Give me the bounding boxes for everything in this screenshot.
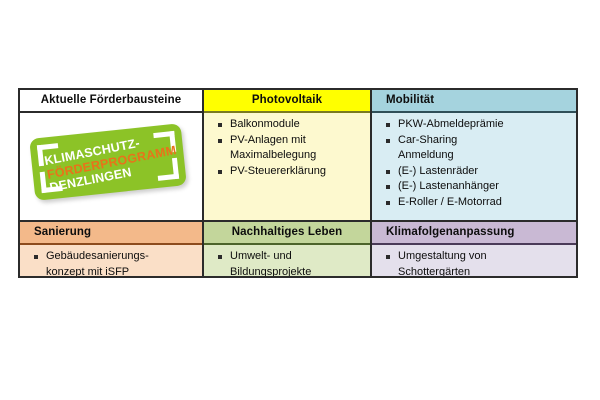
cell-nachhaltiges-leben: Nachhaltiges Leben Umwelt- und Bildungsp…	[202, 222, 370, 276]
list-item: PV-Steuererklärung	[208, 164, 366, 180]
cell-body-nachhaltiges-leben: Umwelt- und Bildungsprojekte	[204, 245, 370, 276]
cell-mobilitaet: Mobilität PKW-Abmeldeprämie Car-Sharing …	[370, 90, 576, 220]
item-list-mobilitaet: PKW-Abmeldeprämie Car-Sharing Anmeldung …	[376, 117, 572, 210]
cell-title-klimafolgenanpassung: Klimafolgenanpassung	[372, 222, 576, 245]
list-item: (E-) Lastenanhänger	[376, 179, 572, 195]
list-item: Gebäudesanierungs-	[24, 249, 198, 265]
list-item-continuation: Schottergärten	[376, 265, 572, 277]
table-row: Aktuelle Förderbausteine KLIMASCHUTZ- FÖ…	[20, 90, 576, 220]
page-root: Aktuelle Förderbausteine KLIMASCHUTZ- FÖ…	[0, 0, 600, 400]
list-item: Umwelt- und	[208, 249, 366, 265]
list-item-continuation: Maximalbelegung	[208, 148, 366, 164]
cell-body-mobilitaet: PKW-Abmeldeprämie Car-Sharing Anmeldung …	[372, 113, 576, 220]
list-item-continuation: konzept mit iSFP	[24, 265, 198, 277]
cell-aktuelle-foerderbausteine: Aktuelle Förderbausteine KLIMASCHUTZ- FÖ…	[20, 90, 202, 220]
list-item-continuation: Anmeldung	[376, 148, 572, 164]
cell-body-sanierung: Gebäudesanierungs- konzept mit iSFP	[20, 245, 202, 276]
list-item: PV-Anlagen mit	[208, 133, 366, 149]
klimaschutz-foerderprogramm-logo: KLIMASCHUTZ- FÖRDERPROGRAMM DENZLINGEN	[29, 123, 187, 201]
list-item: PKW-Abmeldeprämie	[376, 117, 572, 133]
cell-body-aktuelle-foerderbausteine: KLIMASCHUTZ- FÖRDERPROGRAMM DENZLINGEN	[20, 113, 202, 220]
list-item-continuation: Bildungsprojekte	[208, 265, 366, 277]
item-list-nachhaltiges-leben: Umwelt- und Bildungsprojekte	[208, 249, 366, 276]
foerderbausteine-table: Aktuelle Förderbausteine KLIMASCHUTZ- FÖ…	[18, 88, 578, 278]
cell-title-sanierung: Sanierung	[20, 222, 202, 245]
list-item: Car-Sharing	[376, 133, 572, 149]
list-item: Umgestaltung von	[376, 249, 572, 265]
cell-sanierung: Sanierung Gebäudesanierungs- konzept mit…	[20, 222, 202, 276]
item-list-sanierung: Gebäudesanierungs- konzept mit iSFP	[24, 249, 198, 276]
cell-klimafolgenanpassung: Klimafolgenanpassung Umgestaltung von Sc…	[370, 222, 576, 276]
cell-title-nachhaltiges-leben: Nachhaltiges Leben	[204, 222, 370, 245]
cell-body-klimafolgenanpassung: Umgestaltung von Schottergärten	[372, 245, 576, 276]
cell-body-photovoltaik: Balkonmodule PV-Anlagen mit Maximalbeleg…	[204, 113, 370, 220]
cell-title-photovoltaik: Photovoltaik	[204, 90, 370, 113]
list-item: Balkonmodule	[208, 117, 366, 133]
table-row: Sanierung Gebäudesanierungs- konzept mit…	[20, 220, 576, 276]
cell-photovoltaik: Photovoltaik Balkonmodule PV-Anlagen mit…	[202, 90, 370, 220]
item-list-photovoltaik: Balkonmodule PV-Anlagen mit Maximalbeleg…	[208, 117, 366, 179]
list-item: E-Roller / E-Motorrad	[376, 195, 572, 211]
item-list-klimafolgenanpassung: Umgestaltung von Schottergärten	[376, 249, 572, 276]
logo-text: KLIMASCHUTZ- FÖRDERPROGRAMM DENZLINGEN	[43, 131, 176, 195]
cell-title-mobilitaet: Mobilität	[372, 90, 576, 113]
cell-title-aktuelle-foerderbausteine: Aktuelle Förderbausteine	[20, 90, 202, 113]
list-item: (E-) Lastenräder	[376, 164, 572, 180]
